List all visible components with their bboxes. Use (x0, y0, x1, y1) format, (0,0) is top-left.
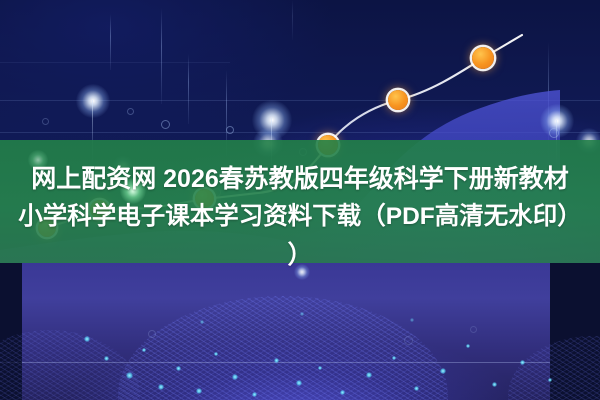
ring-particle (161, 120, 170, 129)
chart-marker (472, 47, 494, 69)
ring-particle (42, 118, 49, 125)
banner-line-3: ） (287, 236, 312, 274)
ring-particle (127, 108, 134, 115)
ring-particle (404, 336, 413, 345)
banner-line-2: 小学科学电子课本学习资料下载（PDF高清无水印） (18, 198, 582, 236)
chart-marker (388, 90, 408, 110)
ring-particle (470, 326, 477, 333)
ring-particle (549, 128, 559, 138)
hero-banner-image: 网上配资网 2026春苏教版四年级科学下册新教材 小学科学电子课本学习资料下载（… (0, 0, 600, 400)
panel-divider-line (22, 362, 550, 363)
ring-particle (148, 330, 156, 338)
panel-divider-line (0, 362, 24, 363)
ring-particle (226, 126, 234, 134)
banner-line-1: 网上配资网 2026春苏教版四年级科学下册新教材 (31, 160, 569, 198)
banner-text-block: 网上配资网 2026春苏教版四年级科学下册新教材 小学科学电子课本学习资料下载（… (0, 140, 600, 270)
